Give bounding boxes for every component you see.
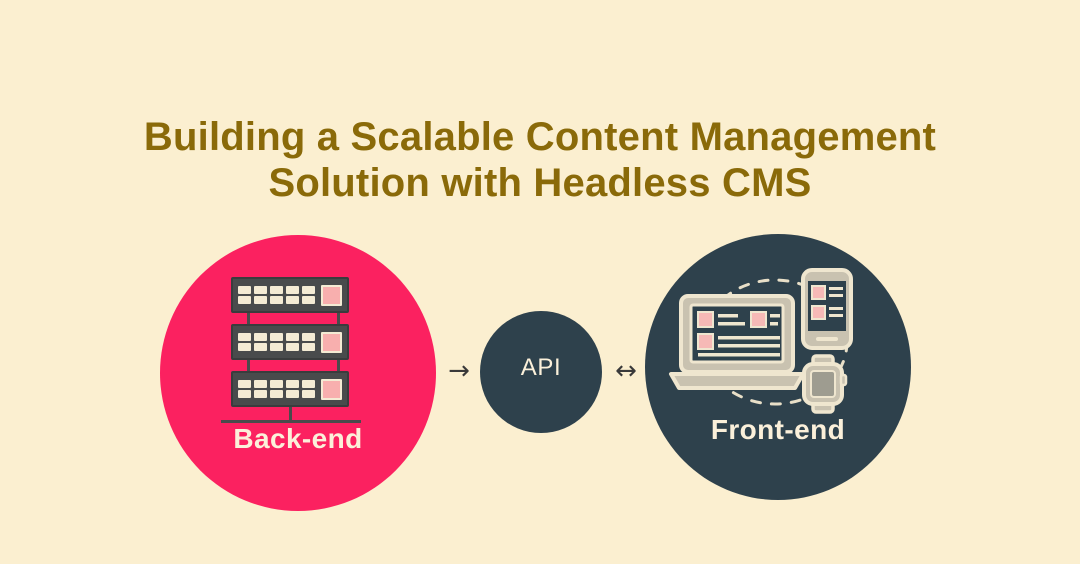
rack-connector-line [337,360,340,371]
rack-led [254,390,267,398]
smartphone-icon [803,270,851,348]
rack-connector-line [247,360,250,371]
rack-connector-line [247,313,250,324]
rack-led-grid [238,380,315,398]
rack-led [254,333,267,341]
node-frontend: Front-end [645,234,911,500]
rack-led-grid [238,333,315,351]
rack-led [238,286,251,294]
rack-led [302,380,315,388]
rack-led [286,296,299,304]
rack-panel [321,332,342,353]
rack-led [238,333,251,341]
rack-led [286,380,299,388]
rack-led [254,296,267,304]
rack-led [286,343,299,351]
rack-led [238,390,251,398]
devices-icon [667,264,889,424]
rack-led [254,380,267,388]
node-label-api: API [480,354,602,382]
server-rack-unit [231,371,349,407]
rack-led [302,390,315,398]
page-title: Building a Scalable Content Management S… [0,114,1080,207]
arrow-backend-to-api-icon: → [437,358,481,384]
smartwatch-icon [804,356,846,412]
arrow-api-to-frontend-icon: ↔ [604,358,648,384]
server-rack-unit [231,277,349,313]
rack-connector-line [337,313,340,324]
rack-led [238,380,251,388]
rack-led [286,333,299,341]
rack-led [302,333,315,341]
rack-led [286,286,299,294]
node-backend: Back-end [160,235,436,511]
rack-led [302,296,315,304]
rack-led [238,343,251,351]
rack-led [270,333,283,341]
rack-led [254,286,267,294]
rack-led [302,286,315,294]
laptop-icon [671,296,803,388]
rack-led [238,296,251,304]
rack-panel [321,285,342,306]
rack-led [270,380,283,388]
rack-led [254,343,267,351]
title-line-2: Solution with Headless CMS [0,160,1080,206]
title-line-1: Building a Scalable Content Management [0,114,1080,160]
rack-panel [321,379,342,400]
server-rack-icon [221,277,376,422]
node-label-frontend: Front-end [645,414,911,446]
server-rack-unit [231,324,349,360]
rack-led [270,343,283,351]
rack-led [270,286,283,294]
node-label-backend: Back-end [160,423,436,455]
rack-led [270,390,283,398]
rack-led [302,343,315,351]
rack-led [286,390,299,398]
infographic-canvas: Building a Scalable Content Management S… [0,0,1080,564]
rack-led [270,296,283,304]
node-api: API [480,311,602,433]
rack-led-grid [238,286,315,304]
